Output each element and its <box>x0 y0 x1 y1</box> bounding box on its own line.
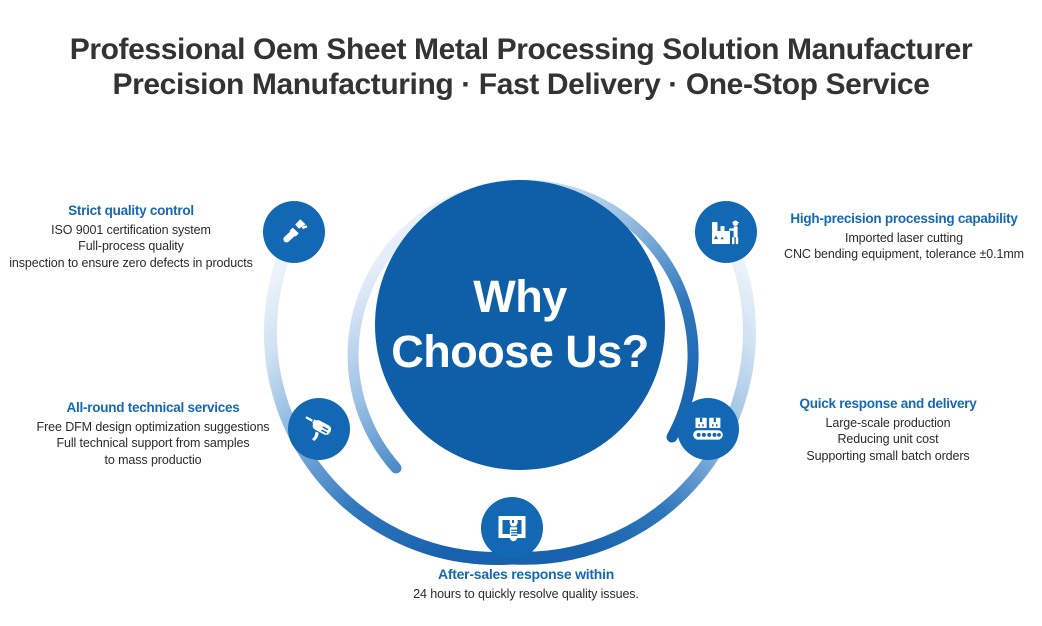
item-heading: Strict quality control <box>0 203 262 220</box>
trowel-icon <box>277 215 311 249</box>
item-line: to mass productio <box>22 452 284 469</box>
item-heading: High-precision processing capability <box>773 211 1035 228</box>
center-circle: Why Choose Us? <box>375 180 665 470</box>
item-heading: Quick response and delivery <box>757 396 1019 413</box>
item-line: Full technical support from samples <box>22 435 284 452</box>
item-line: Full-process quality <box>0 238 262 255</box>
item-line: Supporting small batch orders <box>757 448 1019 465</box>
item-strict-quality-control: Strict quality control ISO 9001 certific… <box>0 203 262 271</box>
item-quick-response-delivery: Quick response and delivery Large-scale … <box>757 396 1019 464</box>
item-all-round-technical-services: All-round technical services Free DFM de… <box>22 400 284 468</box>
item-line: ISO 9001 certification system <box>0 222 262 239</box>
power-drill-icon-badge[interactable] <box>288 398 350 460</box>
center-line-2: Choose Us? <box>391 325 649 380</box>
item-line: Large-scale production <box>757 415 1019 432</box>
item-high-precision-processing: High-precision processing capability Imp… <box>773 211 1035 263</box>
infographic-canvas: Professional Oem Sheet Metal Processing … <box>0 0 1042 626</box>
operator-machine-icon-badge[interactable] <box>695 201 757 263</box>
page-title: Professional Oem Sheet Metal Processing … <box>0 32 1042 103</box>
title-line-1: Professional Oem Sheet Metal Processing … <box>0 32 1042 67</box>
item-heading: After-sales response within <box>381 566 671 584</box>
wrench-hand-icon <box>494 510 530 546</box>
item-after-sales-response: After-sales response within 24 hours to … <box>381 566 671 602</box>
trowel-icon-badge[interactable] <box>263 201 325 263</box>
item-line: Reducing unit cost <box>757 431 1019 448</box>
item-line: Free DFM design optimization suggestions <box>22 419 284 436</box>
item-line: inspection to ensure zero defects in pro… <box>0 255 262 272</box>
title-line-2: Precision Manufacturing · Fast Delivery … <box>0 67 1042 102</box>
item-heading: All-round technical services <box>22 400 284 417</box>
wrench-hand-icon-badge[interactable] <box>481 497 543 559</box>
item-line: 24 hours to quickly resolve quality issu… <box>381 586 671 603</box>
item-line: Imported laser cutting <box>773 230 1035 247</box>
conveyor-belt-icon <box>690 411 726 447</box>
center-line-1: Why <box>473 270 567 325</box>
conveyor-belt-icon-badge[interactable] <box>677 398 739 460</box>
power-drill-icon <box>301 411 337 447</box>
operator-machine-icon <box>708 214 744 250</box>
item-line: CNC bending equipment, tolerance ±0.1mm <box>773 246 1035 263</box>
